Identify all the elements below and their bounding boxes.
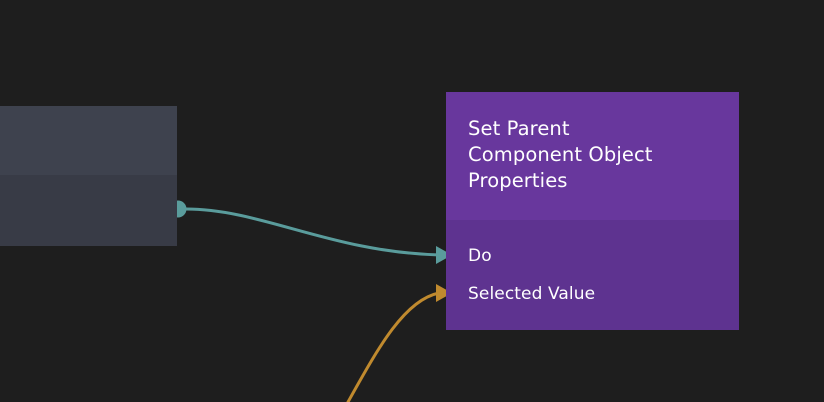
set-parent-component-object-properties-node[interactable]: Set Parent Component Object Properties D… xyxy=(446,92,739,330)
target-node-body[interactable]: Do Selected Value xyxy=(446,220,739,330)
input-port-do-label[interactable]: Do xyxy=(468,248,492,265)
target-node-title: Set Parent Component Object Properties xyxy=(468,116,678,194)
node-graph-canvas[interactable]: Finished Set Parent Component Object Pro… xyxy=(0,0,824,402)
finished-source-node[interactable]: Finished xyxy=(0,106,177,246)
target-node-header[interactable]: Set Parent Component Object Properties xyxy=(446,92,739,220)
source-node-body[interactable]: Finished xyxy=(0,175,177,246)
input-port-selected-value-label[interactable]: Selected Value xyxy=(468,286,595,303)
source-node-header[interactable] xyxy=(0,106,177,175)
